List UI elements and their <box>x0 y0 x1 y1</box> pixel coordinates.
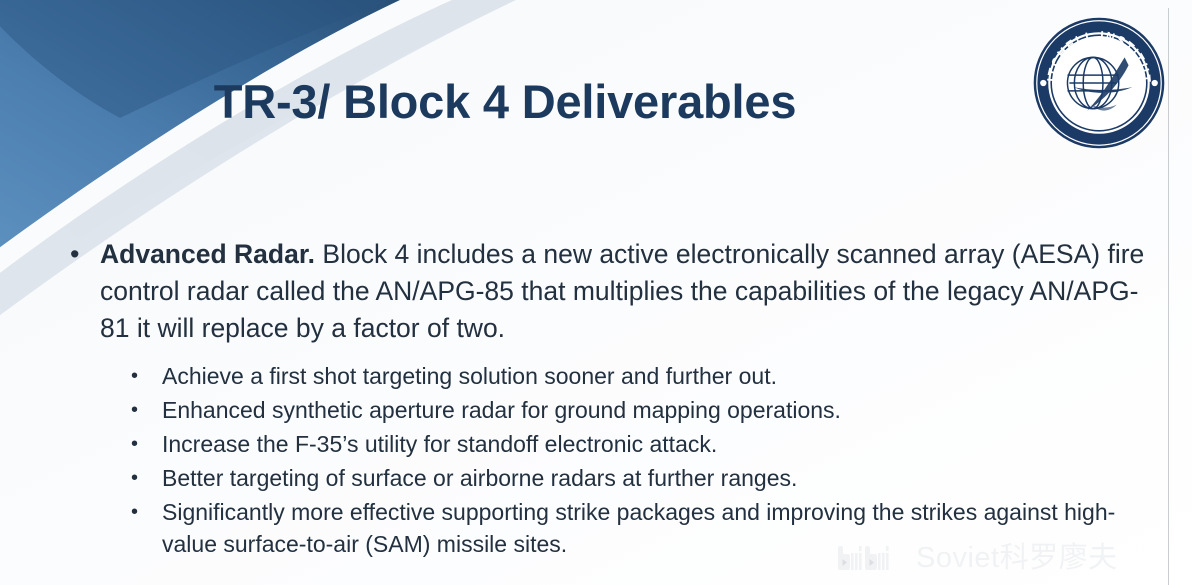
sub-bullet-text: Increase the F-35’s utility for standoff… <box>162 428 1152 460</box>
list-item: • Significantly more effective supportin… <box>125 496 1152 560</box>
right-edge-rule <box>1168 8 1169 585</box>
presentation-slide: MITCHELL INSTITUTE FOR AEROSPACE STUDIES… <box>0 0 1192 585</box>
list-item: • Increase the F-35’s utility for stando… <box>125 428 1152 460</box>
list-item: • Better targeting of surface or airborn… <box>125 462 1152 494</box>
page-title: TR-3/ Block 4 Deliverables <box>0 74 1010 129</box>
bullet-glyph-icon: • <box>125 360 162 392</box>
bullet-glyph-icon: • <box>125 462 162 494</box>
sub-bullet-text: Enhanced synthetic aperture radar for gr… <box>162 394 1152 426</box>
list-item: • Achieve a first shot targeting solutio… <box>125 360 1152 392</box>
bullet-glyph-icon: • <box>125 496 162 528</box>
mitchell-institute-logo-icon: MITCHELL INSTITUTE FOR AEROSPACE STUDIES <box>1030 14 1168 152</box>
primary-bullet-text: Advanced Radar. Block 4 includes a new a… <box>100 236 1152 347</box>
bullet-glyph-icon: • <box>125 428 162 460</box>
list-item: • Enhanced synthetic aperture radar for … <box>125 394 1152 426</box>
bullet-glyph-icon: • <box>125 394 162 426</box>
sub-bullet-text: Better targeting of surface or airborne … <box>162 462 1152 494</box>
sub-bullet-text: Achieve a first shot targeting solution … <box>162 360 1152 392</box>
sub-bullet-text: Significantly more effective supporting … <box>162 496 1152 560</box>
slide-body: • Advanced Radar. Block 4 includes a new… <box>62 236 1152 562</box>
primary-bullet-item: • Advanced Radar. Block 4 includes a new… <box>62 236 1152 347</box>
bullet-glyph-icon: • <box>62 236 100 273</box>
sub-bullet-list: • Achieve a first shot targeting solutio… <box>62 360 1152 560</box>
primary-bullet-lead: Advanced Radar. <box>100 239 315 269</box>
